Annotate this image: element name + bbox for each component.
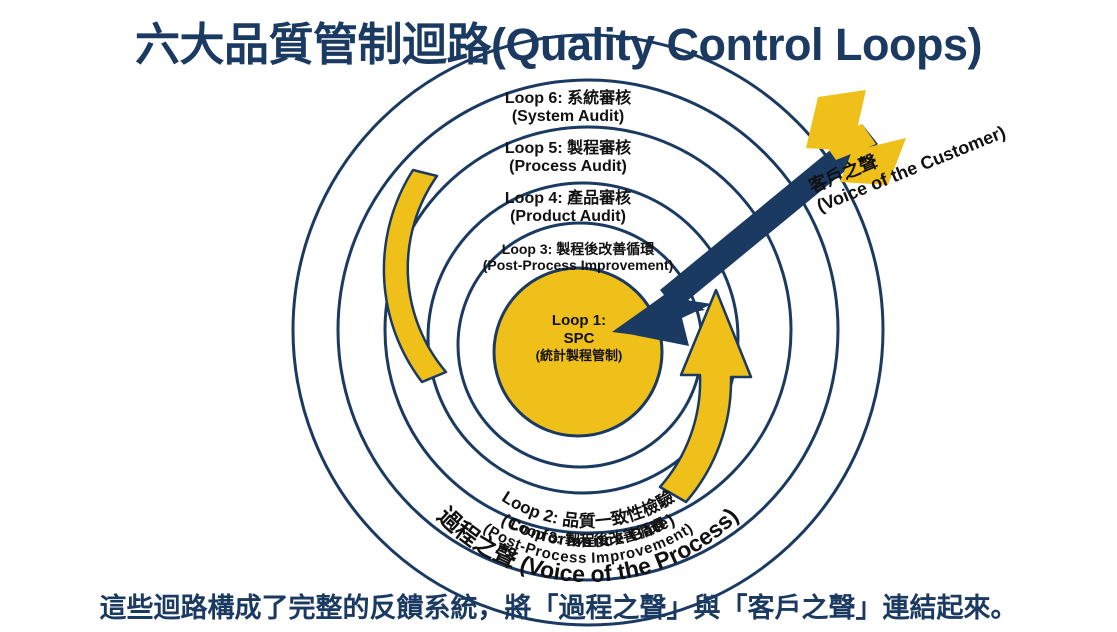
slide-caption: 這些迴路構成了完整的反饋系統，將「過程之聲」與「客戶之聲」連結起來。	[0, 586, 1117, 625]
ring-label-loop4-cn: Loop 4: 產品審核	[398, 190, 738, 208]
center-label-loop1-name: SPC	[564, 330, 595, 347]
ring-label-loop3-cn: Loop 3: 製程後改善循環	[388, 242, 768, 258]
slide-canvas: 六大品質管制迴路(Quality Control Loops)	[0, 0, 1117, 632]
ring-label-loop3-en: (Post-Process Improvement)	[388, 258, 768, 274]
center-label-loop1: Loop 1: SPC (統計製程管制)	[496, 312, 662, 364]
center-label-loop1-title: Loop 1:	[552, 312, 606, 329]
center-label-loop1-sub: (統計製程管制)	[496, 348, 662, 364]
ring-label-loop6-en: (System Audit)	[398, 108, 738, 126]
ring-label-loop3: Loop 3: 製程後改善循環 (Post-Process Improvemen…	[388, 242, 768, 273]
ring-label-loop5-cn: Loop 5: 製程審核	[398, 140, 738, 158]
ring-label-loop6: Loop 6: 系統審核 (System Audit)	[398, 90, 738, 126]
ring-label-loop4-en: (Product Audit)	[398, 208, 738, 226]
ring-label-loop6-cn: Loop 6: 系統審核	[398, 90, 738, 108]
ring-label-loop5-en: (Process Audit)	[398, 158, 738, 176]
ring-label-loop4: Loop 4: 產品審核 (Product Audit)	[398, 190, 738, 226]
ring-label-loop5: Loop 5: 製程審核 (Process Audit)	[398, 140, 738, 176]
